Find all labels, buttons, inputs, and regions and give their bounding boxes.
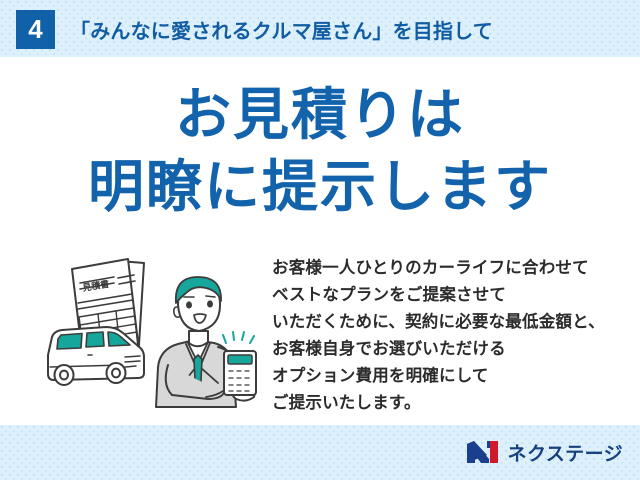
footer-band: ネクステージ: [0, 425, 640, 480]
slide-root: 4 「みんなに愛されるクルマ屋さん」を目指して お見積りは 明瞭に提示します: [0, 0, 640, 480]
header-content: 4 「みんなに愛されるクルマ屋さん」を目指して: [16, 9, 493, 49]
brand-name: ネクステージ: [508, 439, 623, 466]
body-line: オプション費用を明確にして: [272, 363, 632, 390]
headline-line-1: お見積りは: [0, 82, 640, 148]
body-line: ベストなプランをご提案させて: [272, 282, 632, 309]
header-band: 4 「みんなに愛されるクルマ屋さん」を目指して: [0, 0, 640, 57]
brand-logo: ネクステージ: [465, 438, 623, 466]
body-line: いただくために、契約に必要な最低金額と、: [272, 309, 632, 336]
body-line: お客様一人ひとりのカーライフに合わせて: [272, 255, 632, 282]
step-number-badge: 4: [16, 10, 55, 49]
body-line: ご提示いたします。: [272, 390, 632, 417]
header-title: 「みんなに愛されるクルマ屋さん」を目指して: [70, 15, 493, 44]
sparkle-icon: [223, 332, 254, 343]
body-copy: お客様一人ひとりのカーライフに合わせて ベストなプランをご提案させて いただくた…: [272, 255, 632, 417]
content-panel: お見積りは 明瞭に提示します: [0, 57, 640, 425]
headline-line-2: 明瞭に提示します: [0, 154, 640, 220]
calculator-illustration: [224, 351, 256, 395]
body-line: お客様自身でお選びいただける: [272, 336, 632, 363]
estimate-illustration: 見積書: [28, 247, 268, 417]
illustration-svg: 見積書: [28, 247, 268, 417]
nextage-n-logo-icon: [465, 439, 501, 465]
page-headline: お見積りは 明瞭に提示します: [0, 82, 640, 220]
